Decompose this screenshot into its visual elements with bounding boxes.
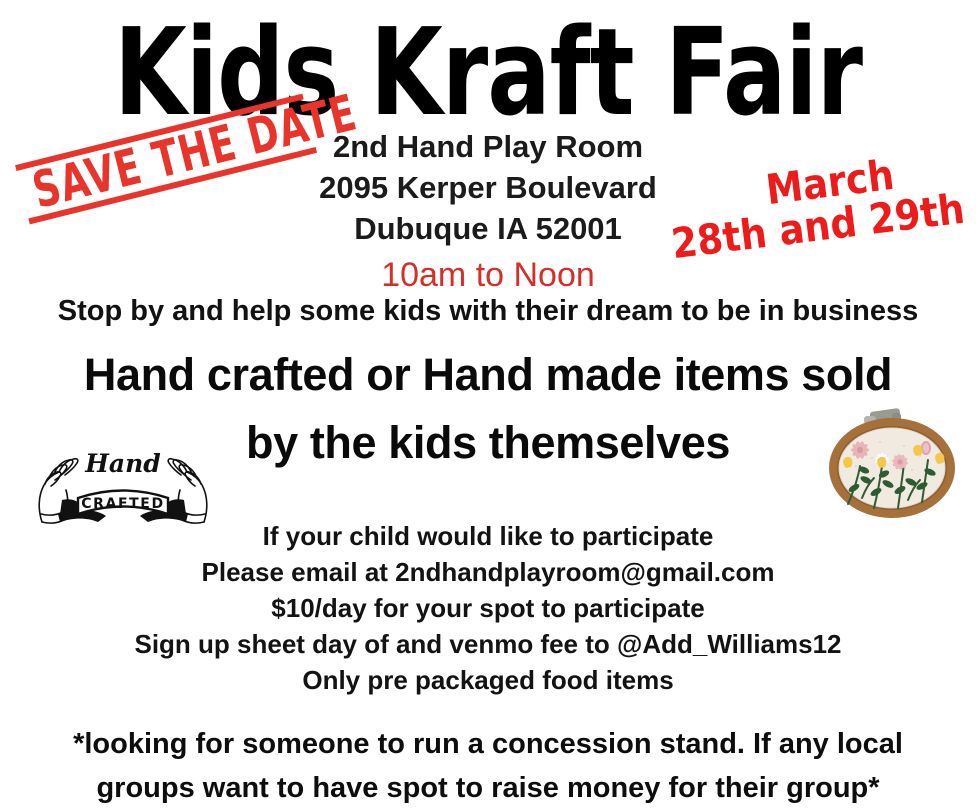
flyer-canvas: Kids Kraft Fair SAVE THE DATE 2nd Hand P… — [0, 0, 976, 809]
embroidery-hoop-illustration — [812, 404, 972, 522]
detail-line-email: Please email at 2ndhandplayroom@gmail.co… — [0, 554, 976, 590]
venue-name: 2nd Hand Play Room — [238, 126, 738, 167]
footnote-line-2: groups want to have spot to raise money … — [0, 766, 976, 809]
hand-script-word: Hand — [84, 449, 160, 478]
venue-street: 2095 Kerper Boulevard — [238, 167, 738, 208]
hand-crafted-logo: Hand CRAFTED — [28, 438, 218, 530]
embroidery-hoop-icon — [812, 404, 972, 522]
detail-line-food: Only pre packaged food items — [0, 662, 976, 698]
page-title: Kids Kraft Fair — [0, 14, 976, 134]
tagline: Stop by and help some kids with their dr… — [0, 292, 976, 330]
headline-line-1: Hand crafted or Hand made items sold — [0, 341, 976, 409]
event-date-block: March 28th and 29th — [668, 162, 968, 249]
venue-city-state-zip: Dubuque IA 52001 — [238, 208, 738, 249]
footnote-line-1: *looking for someone to run a concession… — [0, 722, 976, 766]
detail-line-venmo: Sign up sheet day of and venmo fee to @A… — [0, 626, 976, 662]
participation-details: If your child would like to participate … — [0, 518, 976, 698]
detail-line-fee: $10/day for your spot to participate — [0, 590, 976, 626]
venue-block: 2nd Hand Play Room 2095 Kerper Boulevard… — [238, 126, 738, 298]
crafted-banner-word: CRAFTED — [81, 496, 164, 512]
hand-crafted-icon: Hand CRAFTED — [28, 438, 218, 530]
footnote: *looking for someone to run a concession… — [0, 722, 976, 809]
